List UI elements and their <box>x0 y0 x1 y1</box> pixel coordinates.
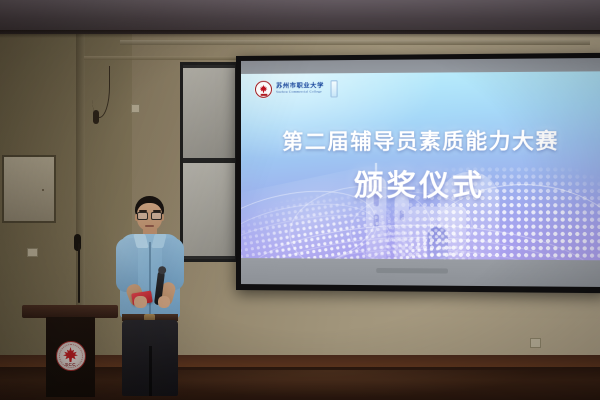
ceiling <box>0 0 600 34</box>
ceiling-mount-track <box>120 40 590 45</box>
podium-body: SCC <box>46 317 95 397</box>
crest-initials: SCC <box>65 362 76 367</box>
window-panel-upper <box>183 68 235 158</box>
maple-leaf-crest-icon: SCC <box>56 341 86 371</box>
maple-leaf-seal-icon <box>255 81 272 98</box>
speaker-shirt-placket <box>149 242 151 316</box>
college-logo: 苏州市职业大学 Suzhou Commercial College <box>255 80 337 98</box>
projection-screen-surface: 苏州市职业大学 Suzhou Commercial College 第二届辅导员… <box>241 58 600 287</box>
eyeglasses <box>137 212 162 219</box>
college-name-en: Suzhou Commercial College <box>276 91 324 95</box>
projection-screen: 苏州市职业大学 Suzhou Commercial College 第二届辅导员… <box>236 53 600 293</box>
gooseneck-microphone-stem <box>78 243 80 303</box>
ceiling-shadow <box>0 30 600 38</box>
wall-plate-upper[interactable] <box>131 104 140 113</box>
slide-title: 第二届辅导员素质能力大赛 <box>241 125 600 156</box>
speaker-mouth <box>145 225 154 227</box>
podium: SCC <box>22 305 118 397</box>
wall-plate-right[interactable] <box>530 338 541 348</box>
wall-plate-left[interactable] <box>27 248 38 257</box>
speaker-hand-right <box>158 296 170 308</box>
photo-scene: 苏州市职业大学 Suzhou Commercial College 第二届辅导员… <box>0 0 600 400</box>
speaker-trouser-seam <box>149 346 152 396</box>
logo-accent-bar <box>330 80 337 97</box>
whiteboard-mark <box>42 189 44 191</box>
whiteboard <box>2 155 56 223</box>
projector-letterbox-bottom <box>241 258 600 287</box>
slide-subtitle: 颁奖仪式 <box>241 162 600 205</box>
hanging-cable-end <box>93 110 99 124</box>
speaker-hand-left <box>134 296 147 308</box>
college-logo-text: 苏州市职业大学 Suzhou Commercial College <box>276 84 324 95</box>
presentation-slide: 苏州市职业大学 Suzhou Commercial College 第二届辅导员… <box>241 71 600 260</box>
speaker-figure <box>108 196 200 400</box>
